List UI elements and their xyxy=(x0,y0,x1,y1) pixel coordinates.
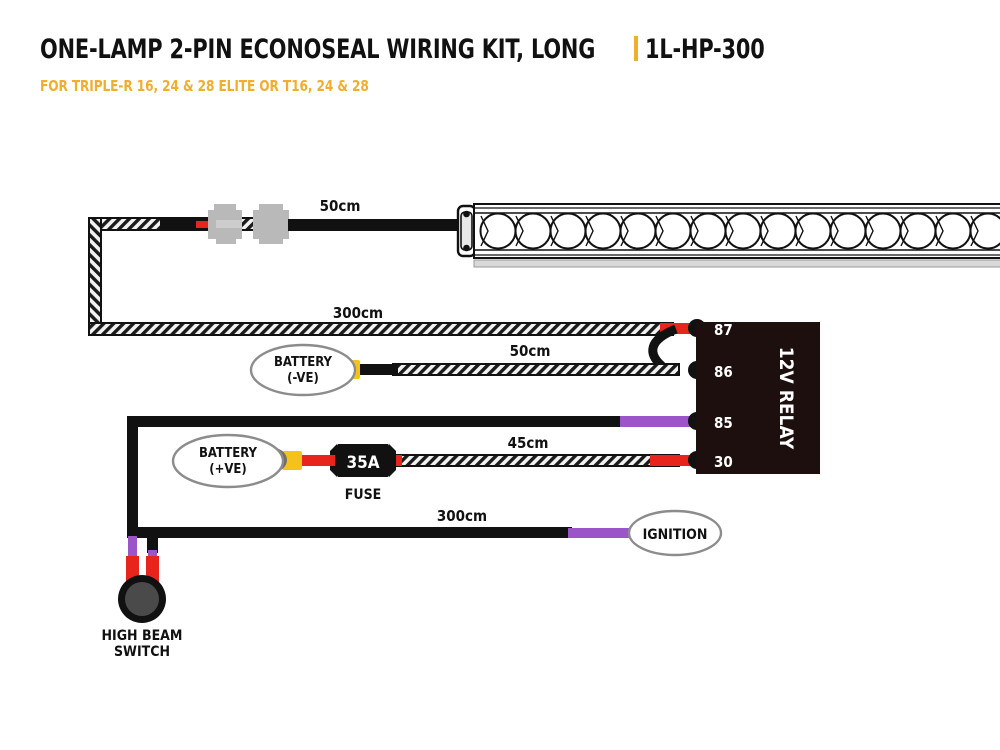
switch-purple-wire-left xyxy=(128,536,137,558)
relay-85-purple-segment xyxy=(620,416,692,427)
econoseal-connector-female xyxy=(208,204,242,244)
measurement-lamp-lead: 50cm xyxy=(320,197,361,215)
page-subtitle: FOR TRIPLE-R 16, 24 & 28 ELITE OR T16, 2… xyxy=(40,77,369,95)
battery-negative-label-line1: BATTERY xyxy=(274,355,332,370)
switch-wire-right-riser xyxy=(147,527,158,553)
relay-terminal-87-label: 87 xyxy=(714,321,733,339)
sleeve-cable-50cm-negative xyxy=(392,363,680,376)
title-divider-bar xyxy=(634,36,638,61)
sleeve-cable-300cm xyxy=(88,322,674,336)
title-row: ONE-LAMP 2-PIN ECONOSEAL WIRING KIT, LON… xyxy=(40,33,784,65)
battery-positive-label-line1: BATTERY xyxy=(199,446,257,461)
sleeve-cable-left-riser xyxy=(88,217,102,336)
wiring-diagram-page: ONE-LAMP 2-PIN ECONOSEAL WIRING KIT, LON… xyxy=(0,0,1000,750)
lamp-lead-to-bar xyxy=(288,219,468,231)
page-header: ONE-LAMP 2-PIN ECONOSEAL WIRING KIT, LON… xyxy=(0,0,1000,118)
ignition-purple-wire xyxy=(568,528,632,538)
led-light-bar xyxy=(458,204,1000,267)
measurement-battery-negative: 50cm xyxy=(510,342,551,360)
measurement-battery-positive: 45cm xyxy=(508,434,549,452)
battery-positive-label-line2: (+VE) xyxy=(209,462,247,477)
fuse-holder: 35A xyxy=(330,444,402,477)
lamp-bar-end-cap xyxy=(458,206,475,256)
switch-face[interactable] xyxy=(125,582,159,616)
relay-title: 12V RELAY xyxy=(775,347,797,450)
switch-label-line1: HIGH BEAM xyxy=(102,628,183,644)
wiring-diagram: 50cm xyxy=(0,118,1000,750)
relay-terminal-30-label: 30 xyxy=(714,453,733,471)
relay-terminal-85-label: 85 xyxy=(714,414,733,432)
sleeve-cable-45cm-positive xyxy=(396,454,680,467)
fuse-rating: 35A xyxy=(346,453,379,473)
battery-negative-label-line2: (-VE) xyxy=(287,371,319,386)
relay-terminal-86-label: 86 xyxy=(714,363,733,381)
product-code: 1L-HP-300 xyxy=(645,34,765,65)
econoseal-connector-male xyxy=(253,204,289,244)
battery-positive-node xyxy=(173,435,283,487)
switch-label-line2: SWITCH xyxy=(114,644,170,660)
page-title: ONE-LAMP 2-PIN ECONOSEAL WIRING KIT, LON… xyxy=(40,34,595,65)
relay-30-red-wire xyxy=(650,455,694,466)
high-beam-switch[interactable] xyxy=(118,536,166,623)
ignition-black-wire xyxy=(138,527,572,538)
ignition-label: IGNITION xyxy=(643,527,708,543)
relay-box: 87 86 85 30 12V RELAY xyxy=(688,319,820,474)
battery-negative-node xyxy=(251,345,355,395)
fuse-caption: FUSE xyxy=(345,487,382,503)
switch-wire-left-riser xyxy=(127,416,138,538)
relay-85-black-wire xyxy=(127,416,692,427)
measurement-ignition-lead: 300cm xyxy=(437,507,487,525)
measurement-main-sleeve: 300cm xyxy=(333,304,383,322)
